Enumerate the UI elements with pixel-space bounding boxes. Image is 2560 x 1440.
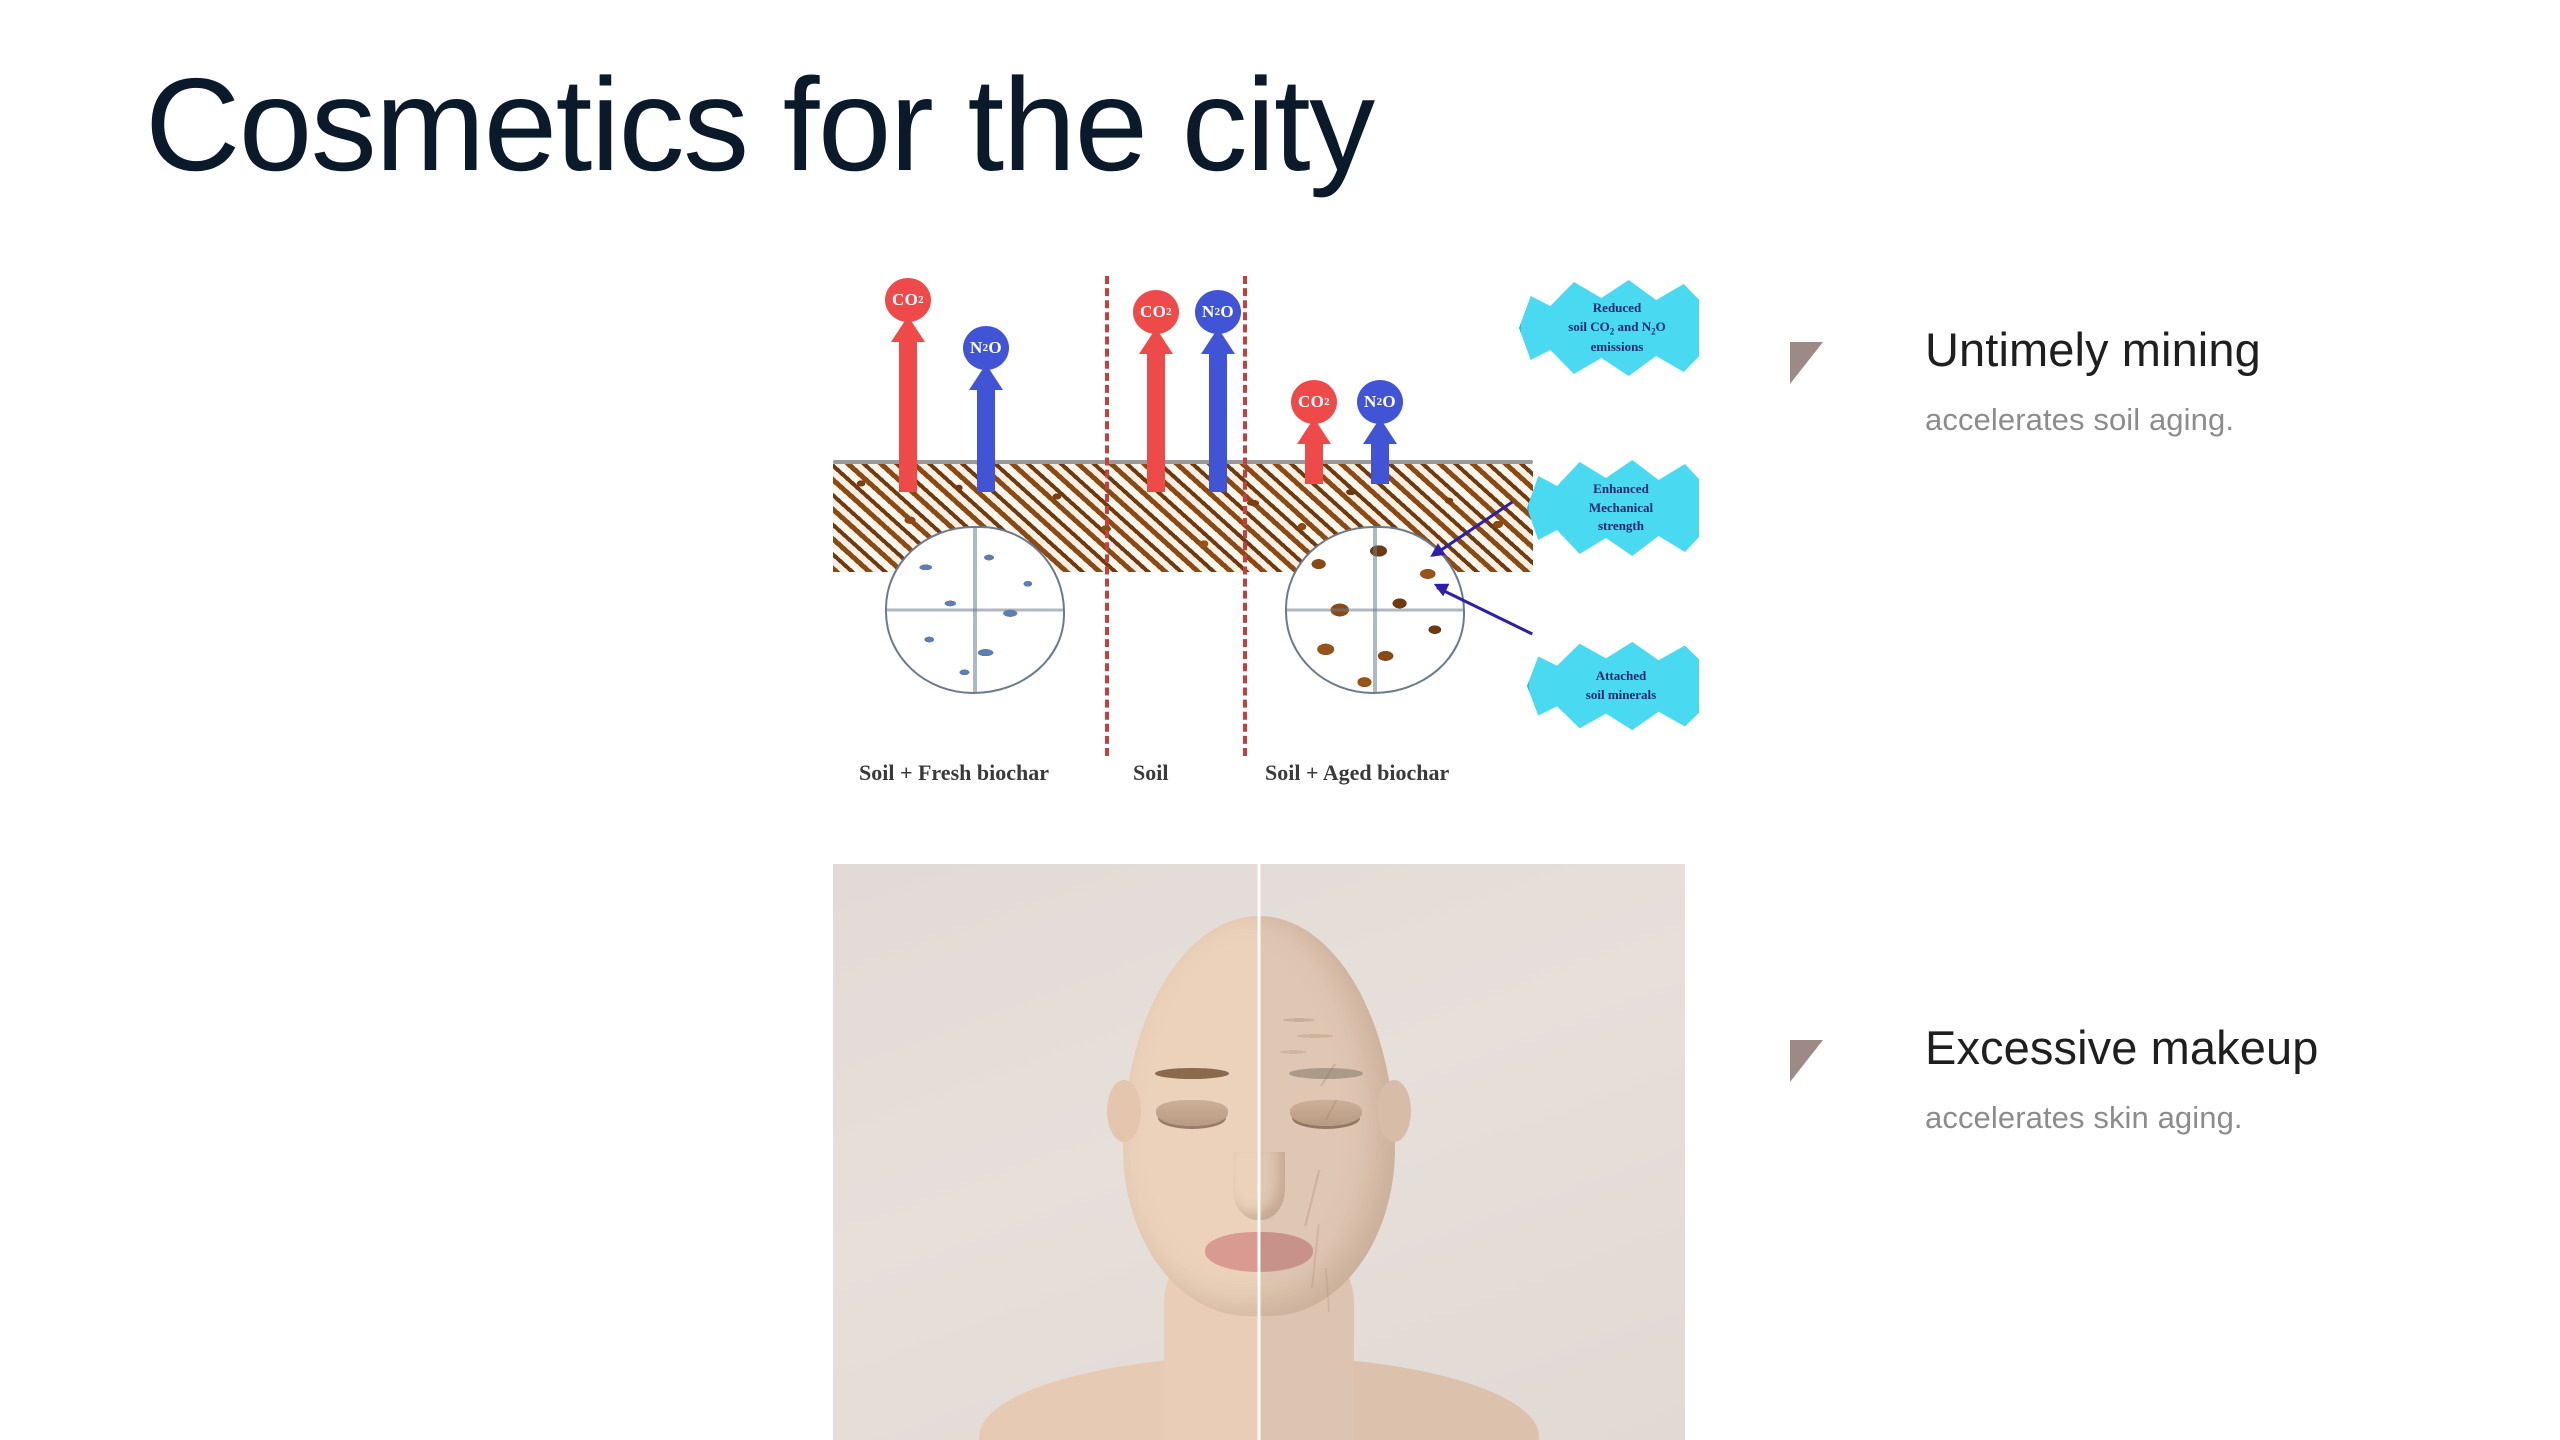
panel-caption-fresh-biochar: Soil + Fresh biochar: [859, 760, 1049, 786]
callout-line-2: soil minerals: [1586, 687, 1656, 702]
callout-mechanical-strength: Enhanced Mechanical strength: [1527, 458, 1699, 558]
soil-biochar-emissions-diagram: CO2 N2O CO2 N2O CO2 N2O: [833, 268, 1699, 808]
panel-divider-2: [1243, 276, 1247, 756]
emission-arrow-n2o-soil: N2O: [1195, 290, 1241, 492]
ear-left: [1107, 1080, 1141, 1142]
arrow-label-n2o: N2O: [1357, 380, 1403, 424]
arrow-label-co2: CO2: [885, 278, 931, 322]
bullet-heading: Excessive makeup: [1925, 1020, 2318, 1075]
callout-line-1: Reduced: [1593, 300, 1641, 315]
eyebrow-left: [1155, 1068, 1229, 1079]
eye-right: [1290, 1100, 1362, 1126]
callout-line-1: Attached: [1596, 668, 1647, 683]
bullet-heading: Untimely mining: [1925, 322, 2261, 377]
arrow-label-n2o: N2O: [963, 326, 1009, 370]
panel-caption-soil: Soil: [1133, 760, 1168, 786]
panel-caption-aged-biochar: Soil + Aged biochar: [1265, 760, 1449, 786]
arrow-label-n2o: N2O: [1195, 290, 1241, 334]
arrow-label-co2: CO2: [1291, 380, 1337, 424]
bullet-subtext: accelerates skin aging.: [1925, 1100, 2243, 1136]
emission-arrow-n2o-aged: N2O: [1357, 380, 1403, 484]
ear-right: [1377, 1080, 1411, 1142]
young-vs-aged-face-comparison: [833, 864, 1685, 1440]
page-title: Cosmetics for the city: [145, 48, 1374, 201]
emission-arrow-co2-soil: CO2: [1133, 290, 1179, 492]
bullet-subtext: accelerates soil aging.: [1925, 402, 2234, 438]
fresh-biochar-particle: [885, 526, 1065, 694]
callout-attached-minerals: Attached soil minerals: [1527, 640, 1699, 732]
eyebrow-right: [1289, 1068, 1363, 1079]
emission-arrow-co2-aged: CO2: [1291, 380, 1337, 484]
callout-reduced-emissions: Reduced soil CO2 and N2O emissions: [1519, 278, 1699, 378]
emission-arrow-n2o-fresh: N2O: [963, 326, 1009, 492]
panel-divider-1: [1105, 276, 1109, 756]
callout-line-1: Enhanced: [1593, 481, 1649, 496]
before-after-split-line: [1258, 864, 1261, 1440]
triangle-bullet-icon: [1790, 342, 1823, 384]
callout-line-2: Mechanical: [1589, 500, 1653, 515]
emission-arrow-co2-fresh: CO2: [885, 278, 931, 492]
callout-line-3: strength: [1598, 518, 1644, 533]
arrow-label-co2: CO2: [1133, 290, 1179, 334]
eye-left: [1156, 1100, 1228, 1126]
triangle-bullet-icon: [1790, 1040, 1823, 1082]
particle-pore-mesh: [887, 528, 1063, 692]
